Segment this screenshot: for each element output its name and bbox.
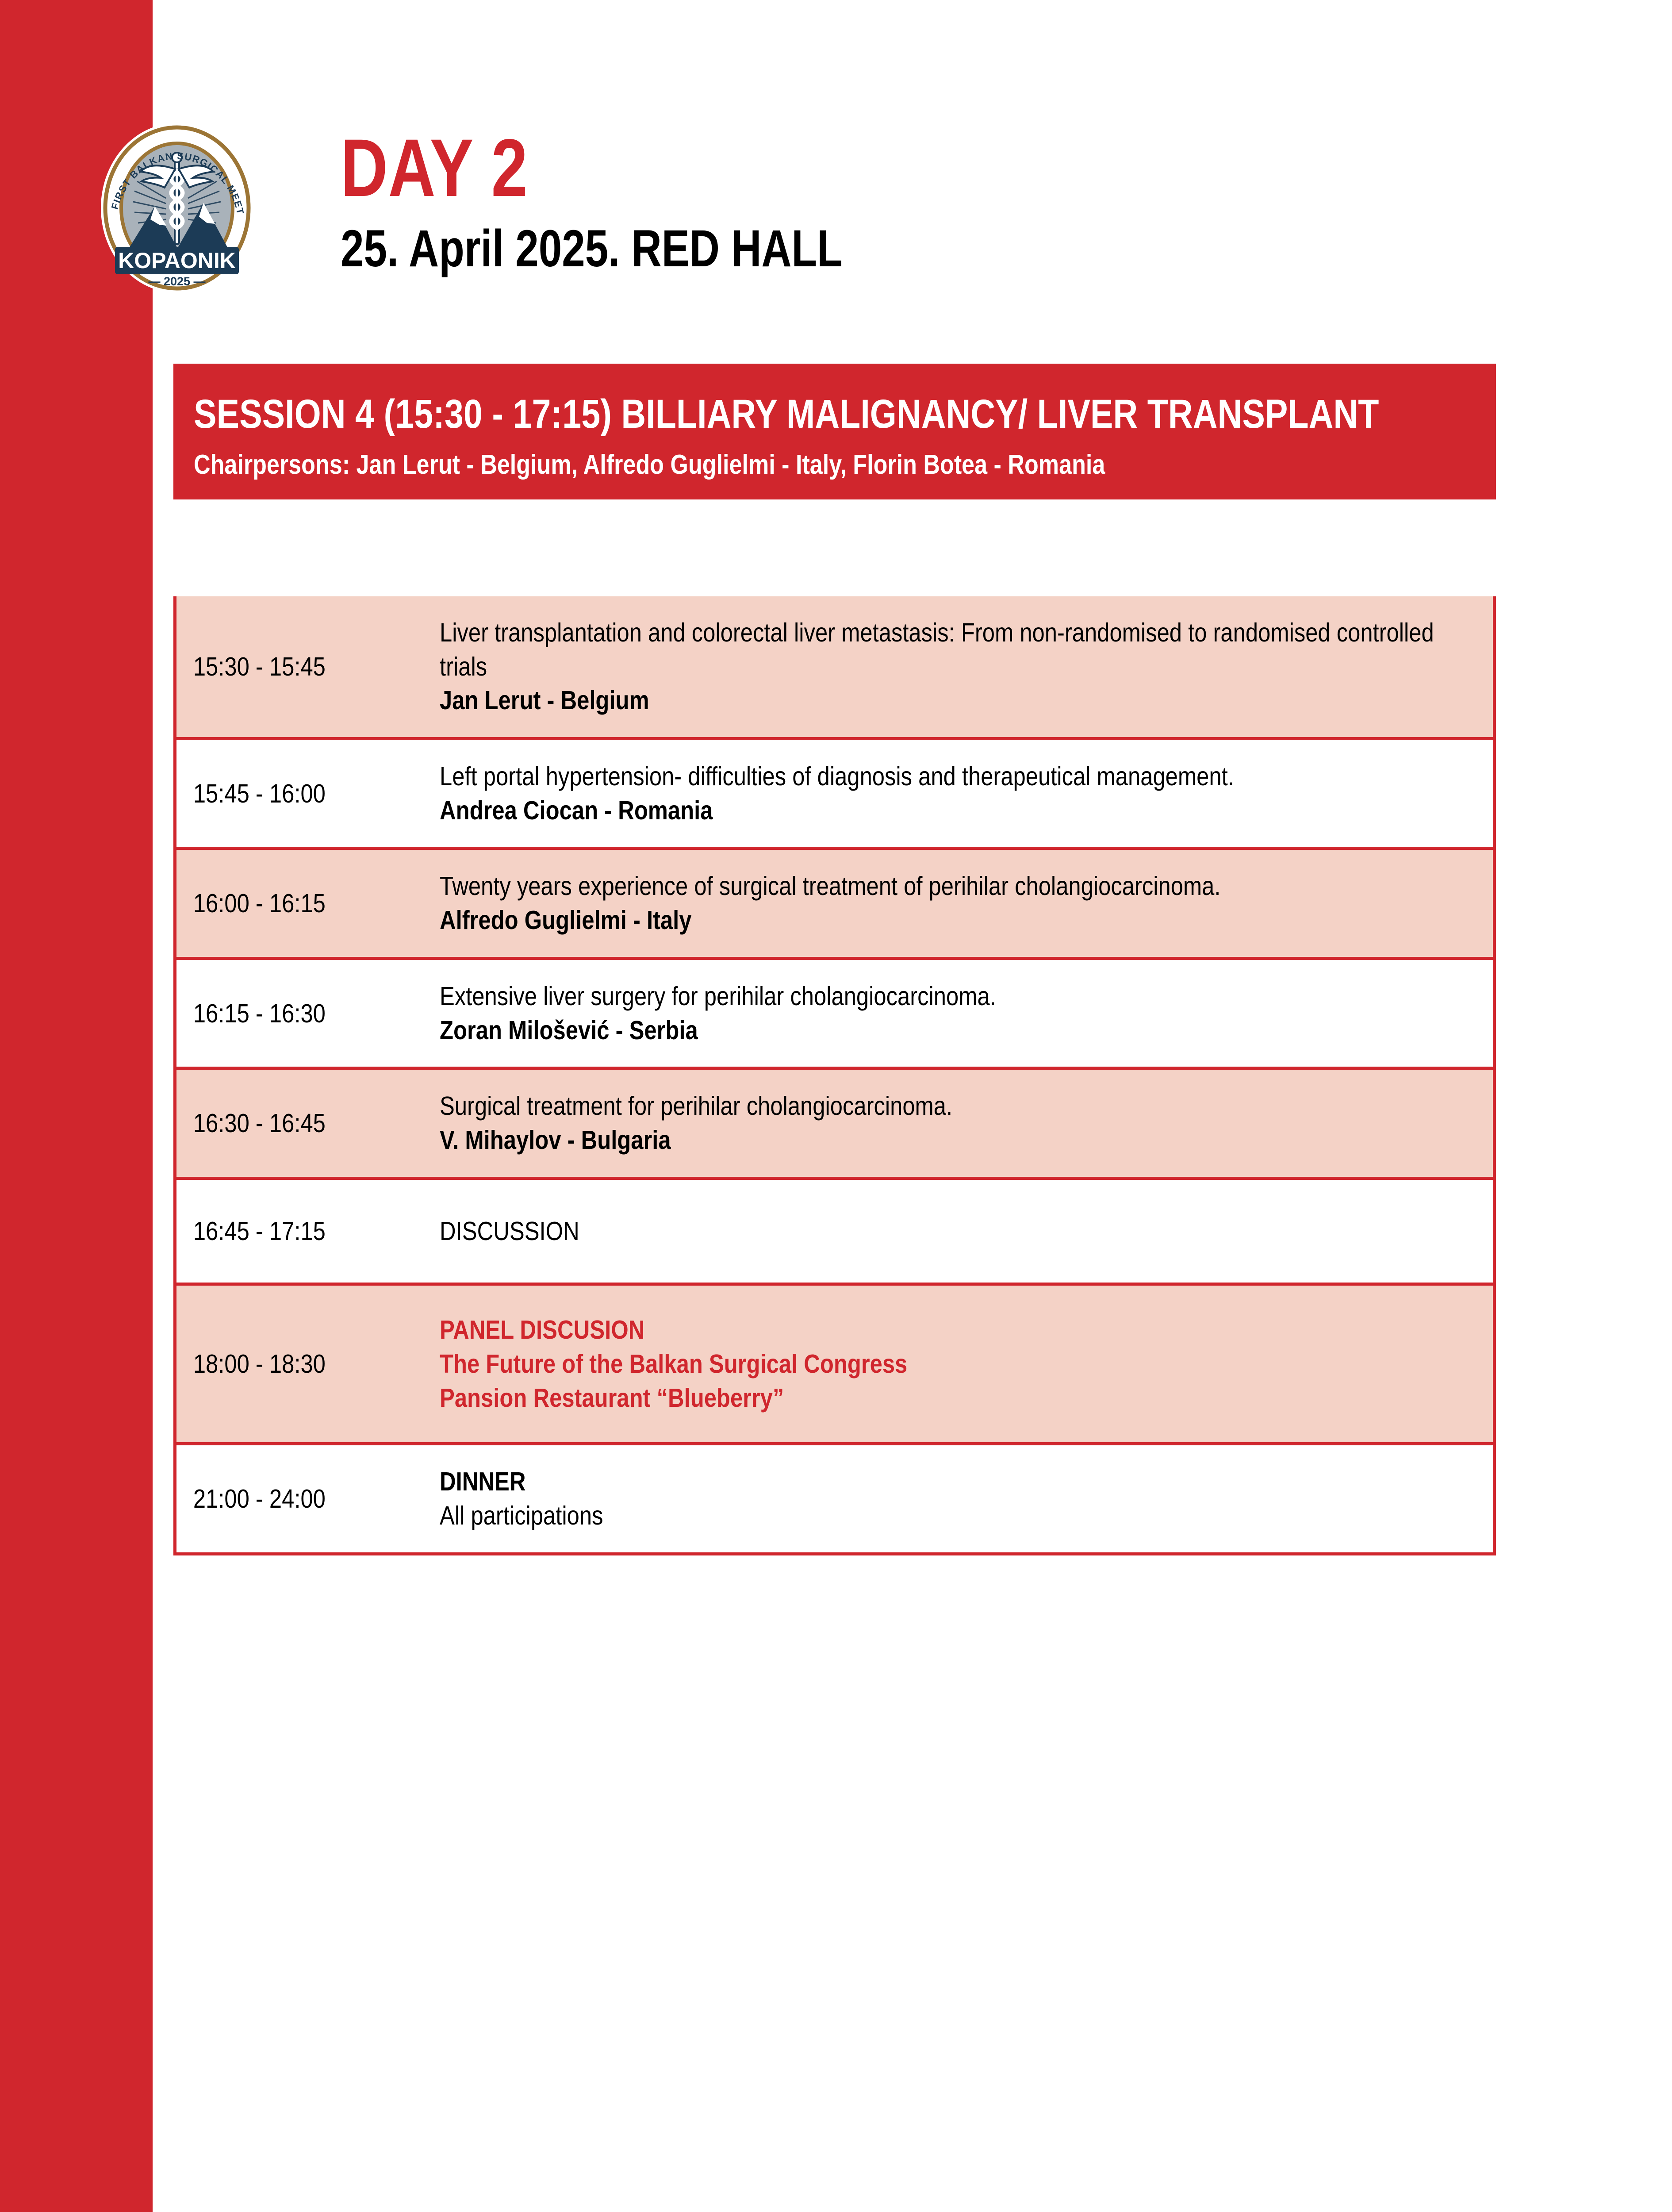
page-title-day: DAY 2 (341, 127, 843, 209)
row-speaker: Zoran Milošević - Serbia (440, 1014, 1468, 1048)
row-speaker: All participations (440, 1499, 1468, 1533)
row-description: Surgical treatment for perihilar cholang… (440, 1070, 1493, 1176)
row-speaker: Jan Lerut - Belgium (440, 684, 1468, 718)
row-speaker: Alfredo Guglielmi - Italy (440, 903, 1468, 937)
row-description: DINNERAll participations (440, 1445, 1493, 1552)
session-title: SESSION 4 (15:30 - 17:15) BILLIARY MALIG… (194, 389, 1475, 439)
row-description: Liver transplantation and colorectal liv… (440, 596, 1493, 737)
row-topic: Liver transplantation and colorectal liv… (440, 616, 1468, 684)
row-topic: Surgical treatment for perihilar cholang… (440, 1089, 1468, 1123)
table-row: 16:30 - 16:45Surgical treatment for peri… (176, 1070, 1493, 1179)
row-speaker: Pansion Restaurant “Blueberry” (440, 1381, 1468, 1415)
table-row: 21:00 - 24:00DINNERAll participations (176, 1445, 1493, 1552)
table-row: 16:45 - 17:15DISCUSSION (176, 1180, 1493, 1286)
left-red-bar (0, 0, 153, 2212)
row-time: 16:00 - 16:15 (176, 888, 403, 918)
row-description: Extensive liver surgery for perihilar ch… (440, 960, 1493, 1067)
page-subtitle-date-hall: 25. April 2025. RED HALL (341, 223, 843, 275)
row-topic: DISCUSSION (440, 1214, 1468, 1248)
row-topic: Extensive liver surgery for perihilar ch… (440, 979, 1468, 1014)
session-chairpersons: Chairpersons: Jan Lerut - Belgium, Alfre… (194, 449, 1475, 481)
row-time: 15:45 - 16:00 (176, 779, 403, 809)
table-row: 16:15 - 16:30Extensive liver surgery for… (176, 960, 1493, 1070)
row-speaker: Andrea Ciocan - Romania (440, 794, 1468, 828)
table-row: 15:30 - 15:45Liver transplantation and c… (176, 596, 1493, 740)
schedule-page: KOPAONIK — 2025 — THE FIRST BALKAN SURGI… (0, 0, 1672, 2212)
row-description: PANEL DISCUSIONThe Future of the Balkan … (440, 1286, 1493, 1442)
table-row: 15:45 - 16:00Left portal hypertension- d… (176, 740, 1493, 850)
row-topic: Left portal hypertension- difficulties o… (440, 760, 1468, 794)
row-description: Twenty years experience of surgical trea… (440, 850, 1493, 956)
kopaonik-logo: KOPAONIK — 2025 — THE FIRST BALKAN SURGI… (88, 119, 265, 296)
logo-year-text: — 2025 — (148, 275, 205, 288)
page-header: KOPAONIK — 2025 — THE FIRST BALKAN SURGI… (88, 111, 1239, 305)
congress-badge-icon: KOPAONIK — 2025 — THE FIRST BALKAN SURGI… (88, 119, 265, 296)
table-row: 16:00 - 16:15Twenty years experience of … (176, 850, 1493, 960)
table-row: 18:00 - 18:30PANEL DISCUSIONThe Future o… (176, 1286, 1493, 1445)
row-description: DISCUSSION (440, 1180, 1493, 1283)
row-time: 16:45 - 17:15 (176, 1216, 403, 1246)
row-speaker: V. Mihaylov - Bulgaria (440, 1123, 1468, 1157)
row-topic: DINNER (440, 1465, 1468, 1499)
row-topic: Twenty years experience of surgical trea… (440, 869, 1468, 903)
session-banner: SESSION 4 (15:30 - 17:15) BILLIARY MALIG… (173, 364, 1496, 499)
row-panel-heading: PANEL DISCUSION (440, 1313, 1468, 1347)
header-text-group: DAY 2 25. April 2025. RED HALL (341, 127, 968, 275)
row-time: 21:00 - 24:00 (176, 1484, 403, 1514)
row-topic: The Future of the Balkan Surgical Congre… (440, 1347, 1468, 1381)
schedule-table: 15:30 - 15:45Liver transplantation and c… (173, 596, 1496, 1555)
row-time: 18:00 - 18:30 (176, 1349, 403, 1379)
row-description: Left portal hypertension- difficulties o… (440, 740, 1493, 847)
row-time: 16:30 - 16:45 (176, 1108, 403, 1138)
row-time: 16:15 - 16:30 (176, 998, 403, 1029)
logo-name-text: KOPAONIK (118, 248, 236, 273)
row-time: 15:30 - 15:45 (176, 652, 403, 682)
